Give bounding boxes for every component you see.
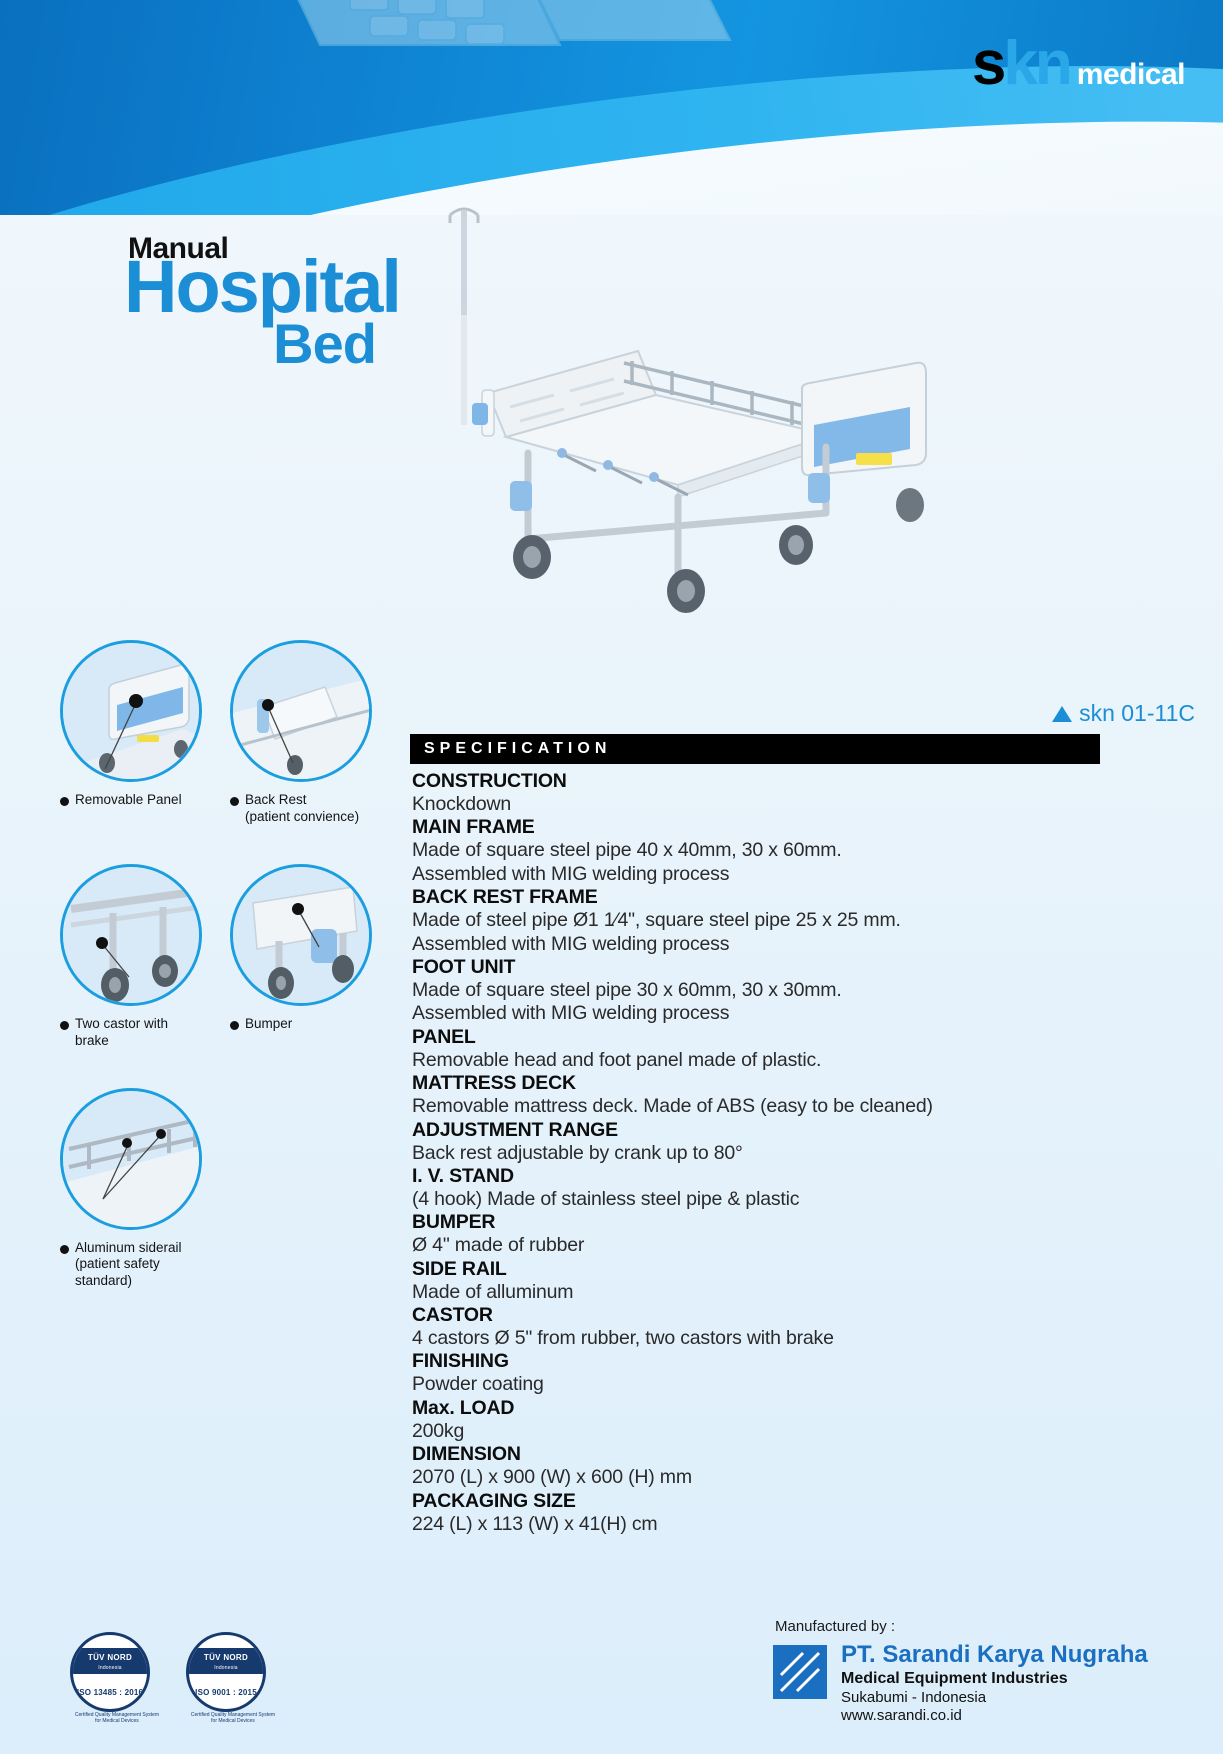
spec-value: 2070 (L) x 900 (W) x 600 (H) mm	[412, 1466, 1102, 1489]
badge-iso-13485: TÜV NORD Indonesia ISO 13485 : 2016 Cert…	[70, 1632, 162, 1724]
model-code: skn 01-11C	[1052, 700, 1195, 727]
thumbnail-caption-text: Two castor with brake	[75, 1016, 202, 1050]
specification-header-bar: SPECIFICATION	[410, 734, 1100, 764]
thumbnail-caption: Removable Panel	[60, 792, 202, 809]
triangle-up-icon	[1052, 706, 1072, 722]
badge-standard: ISO 9001 : 2015	[195, 1688, 257, 1697]
spec-value: Knockdown	[412, 793, 1102, 816]
brand-logo: s kn medical	[972, 36, 1185, 92]
thumbnail-aluminum-siderail[interactable]: Aluminum siderail (patient safety standa…	[60, 1088, 202, 1291]
thumbnail-caption: Bumper	[230, 1016, 372, 1033]
badge-standard: ISO 13485 : 2016	[77, 1688, 143, 1697]
thumbnail-caption-text: Back Rest (patient convience)	[245, 792, 359, 826]
spec-value: Assembled with MIG welding process	[412, 1002, 1102, 1025]
company-website[interactable]: www.sarandi.co.id	[841, 1707, 1148, 1724]
thumbnail-image	[230, 864, 372, 1006]
spec-label: PANEL	[412, 1026, 1102, 1049]
badge-authority: TÜV NORD Indonesia	[73, 1648, 147, 1674]
spec-label: MAIN FRAME	[412, 816, 1102, 839]
thumbnail-row-3: Aluminum siderail (patient safety standa…	[60, 1088, 390, 1291]
bullet-dot-icon	[230, 1021, 239, 1030]
badge-certification-text: Certified Quality Management System for …	[190, 1712, 276, 1725]
thumbnail-image	[60, 1088, 202, 1230]
spec-label: ADJUSTMENT RANGE	[412, 1119, 1102, 1142]
iv-stand-illustration	[450, 209, 478, 425]
thumbnail-row-2: Two castor with brake	[60, 864, 390, 1050]
thumbnail-caption-text: Aluminum siderail (patient safety standa…	[75, 1240, 202, 1291]
castor-illustration	[513, 488, 924, 613]
specification-header-label: SPECIFICATION	[424, 740, 611, 758]
badge-ring: TÜV NORD Indonesia ISO 9001 : 2015	[186, 1632, 266, 1712]
sarandi-logo-icon	[773, 1645, 827, 1699]
thumbnail-caption-text: Bumper	[245, 1016, 292, 1033]
logo-text-s: s	[972, 36, 1003, 92]
page-title: Manual Hospital Bed	[124, 232, 400, 372]
spec-value: Assembled with MIG welding process	[412, 863, 1102, 886]
spec-label: BACK REST FRAME	[412, 886, 1102, 909]
spec-value: Made of square steel pipe 30 x 60mm, 30 …	[412, 979, 1102, 1002]
thumbnail-caption-text: Removable Panel	[75, 792, 182, 809]
spec-label: FINISHING	[412, 1350, 1102, 1373]
spec-value: Back rest adjustable by crank up to 80°	[412, 1142, 1102, 1165]
spec-value: Made of steel pipe Ø1 1⁄4", square steel…	[412, 909, 1102, 932]
spec-value: Ø 4" made of rubber	[412, 1234, 1102, 1257]
spec-label: Max. LOAD	[412, 1397, 1102, 1420]
spec-value: Removable mattress deck. Made of ABS (ea…	[412, 1095, 1102, 1118]
spec-label: PACKAGING SIZE	[412, 1490, 1102, 1513]
thumbnail-back-rest[interactable]: Back Rest (patient convience)	[230, 640, 372, 826]
spec-value: Removable head and foot panel made of pl…	[412, 1049, 1102, 1072]
foot-panel-illustration	[802, 363, 926, 475]
spec-value: Assembled with MIG welding process	[412, 933, 1102, 956]
badge-ring: TÜV NORD Indonesia ISO 13485 : 2016	[70, 1632, 150, 1712]
thumbnail-image	[60, 864, 202, 1006]
specification-list: CONSTRUCTIONKnockdownMAIN FRAMEMade of s…	[412, 770, 1102, 1536]
logo-text-medical: medical	[1077, 58, 1185, 92]
spec-value: 200kg	[412, 1420, 1102, 1443]
hero-product-image	[410, 185, 1110, 625]
detail-thumbnails: Removable Panel	[60, 640, 390, 1290]
thumbnail-caption: Back Rest (patient convience)	[230, 792, 372, 826]
manufactured-by-label: Manufactured by :	[775, 1618, 1193, 1635]
bullet-dot-icon	[60, 1021, 69, 1030]
thumbnail-image	[60, 640, 202, 782]
header-banner: s kn medical	[0, 0, 1223, 215]
spec-label: SIDE RAIL	[412, 1258, 1102, 1281]
thumbnail-row-1: Removable Panel	[60, 640, 390, 826]
thumbnail-caption: Two castor with brake	[60, 1016, 202, 1050]
badge-region: Indonesia	[214, 1665, 238, 1671]
thumbnail-bumper[interactable]: Bumper	[230, 864, 372, 1050]
spec-value: (4 hook) Made of stainless steel pipe & …	[412, 1188, 1102, 1211]
brochure-page: s kn medical Manual Hospital Bed	[0, 0, 1223, 1754]
spec-label: I. V. STAND	[412, 1165, 1102, 1188]
badge-iso-9001: TÜV NORD Indonesia ISO 9001 : 2015 Certi…	[186, 1632, 278, 1724]
bullet-dot-icon	[60, 797, 69, 806]
spec-label: CONSTRUCTION	[412, 770, 1102, 793]
thumbnail-removable-panel[interactable]: Removable Panel	[60, 640, 202, 826]
company-name: PT. Sarandi Karya Nugraha	[841, 1642, 1148, 1668]
spec-value: 4 castors Ø 5" from rubber, two castors …	[412, 1327, 1102, 1350]
spec-label: FOOT UNIT	[412, 956, 1102, 979]
certification-badges: TÜV NORD Indonesia ISO 13485 : 2016 Cert…	[70, 1632, 278, 1724]
model-code-text: skn 01-11C	[1079, 700, 1195, 727]
badge-authority: TÜV NORD Indonesia	[189, 1648, 263, 1674]
manufacturer-block: Manufactured by : PT. Sarandi Karya Nugr…	[773, 1618, 1193, 1724]
spec-label: DIMENSION	[412, 1443, 1102, 1466]
badge-region: Indonesia	[98, 1665, 122, 1671]
bullet-dot-icon	[230, 797, 239, 806]
thumbnail-two-castor-with-brake[interactable]: Two castor with brake	[60, 864, 202, 1050]
spec-value: 224 (L) x 113 (W) x 41(H) cm	[412, 1513, 1102, 1536]
spec-label: MATTRESS DECK	[412, 1072, 1102, 1095]
spec-label: BUMPER	[412, 1211, 1102, 1234]
spec-value: Made of square steel pipe 40 x 40mm, 30 …	[412, 839, 1102, 862]
bullet-dot-icon	[60, 1245, 69, 1254]
spec-value: Made of alluminum	[412, 1281, 1102, 1304]
company-location: Sukabumi - Indonesia	[841, 1689, 1148, 1706]
logo-text-kn: kn	[1003, 36, 1069, 92]
spec-value: Powder coating	[412, 1373, 1102, 1396]
badge-certification-text: Certified Quality Management System for …	[74, 1712, 160, 1725]
thumbnail-caption: Aluminum siderail (patient safety standa…	[60, 1240, 202, 1291]
spec-label: CASTOR	[412, 1304, 1102, 1327]
company-division: Medical Equipment Industries	[841, 1670, 1148, 1688]
thumbnail-image	[230, 640, 372, 782]
